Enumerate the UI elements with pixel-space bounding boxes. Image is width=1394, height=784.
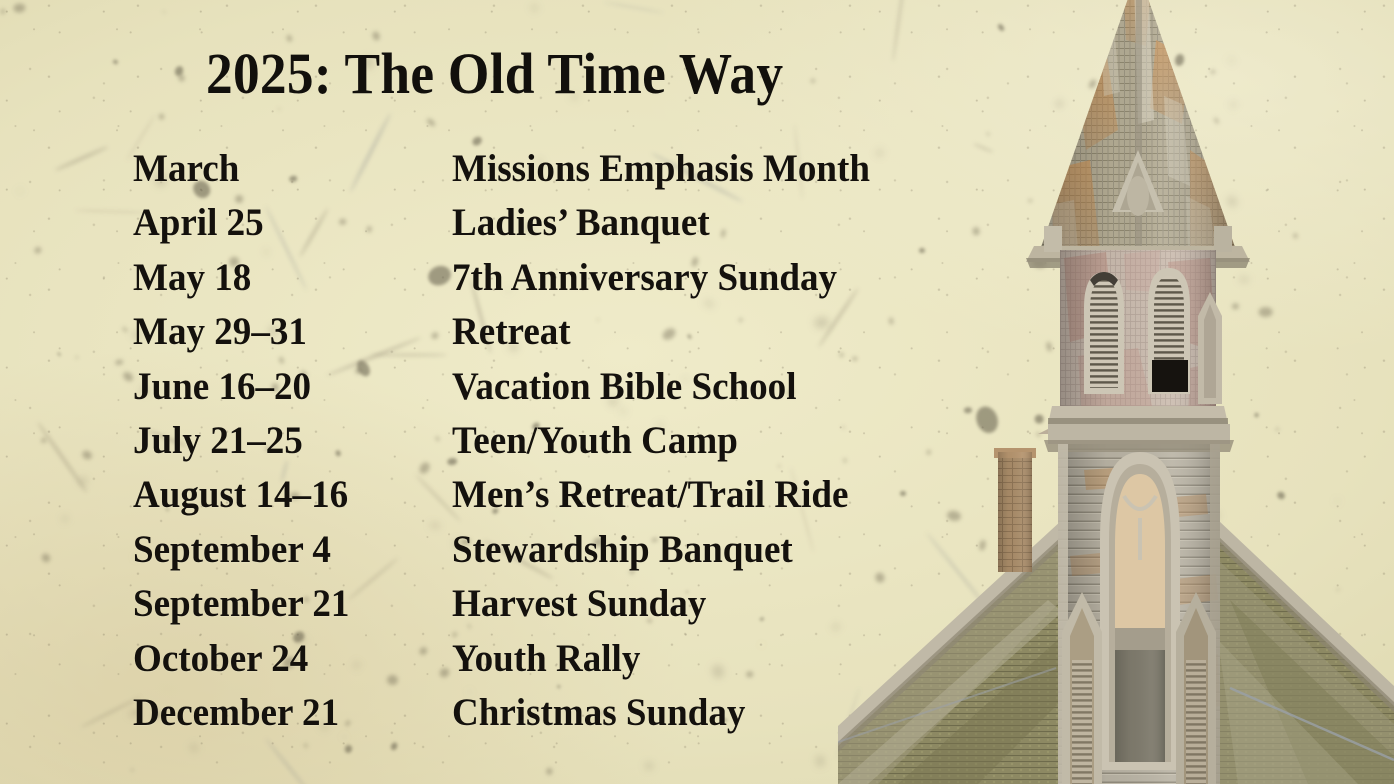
schedule-row: MarchMissions Emphasis Month (133, 145, 993, 199)
schedule-row: May 29–31Retreat (133, 308, 993, 362)
schedule-event: Ladies’ Banquet (452, 199, 710, 247)
schedule-event: Stewardship Banquet (452, 526, 793, 574)
event-schedule-list: MarchMissions Emphasis MonthApril 25Ladi… (133, 145, 993, 743)
schedule-event: Retreat (452, 308, 571, 356)
schedule-date: August 14–16 (133, 471, 348, 519)
schedule-row: May 187th Anniversary Sunday (133, 254, 993, 308)
schedule-date: May 18 (133, 254, 251, 302)
schedule-row: September 4Stewardship Banquet (133, 526, 993, 580)
schedule-event: Christmas Sunday (452, 689, 745, 737)
page-title: 2025: The Old Time Way (206, 40, 783, 107)
schedule-event: 7th Anniversary Sunday (452, 254, 837, 302)
schedule-row: July 21–25Teen/Youth Camp (133, 417, 993, 471)
schedule-date: September 21 (133, 580, 349, 628)
schedule-date: December 21 (133, 689, 339, 737)
schedule-date: May 29–31 (133, 308, 307, 356)
schedule-row: September 21Harvest Sunday (133, 580, 993, 634)
schedule-event: Men’s Retreat/Trail Ride (452, 471, 848, 519)
schedule-date: July 21–25 (133, 417, 303, 465)
schedule-event: Missions Emphasis Month (452, 145, 870, 193)
schedule-date: March (133, 145, 239, 193)
slide-canvas: 2025: The Old Time Way MarchMissions Emp… (0, 0, 1394, 784)
schedule-date: April 25 (133, 199, 264, 247)
schedule-row: April 25Ladies’ Banquet (133, 199, 993, 253)
schedule-date: June 16–20 (133, 363, 311, 411)
schedule-date: October 24 (133, 635, 308, 683)
schedule-row: October 24Youth Rally (133, 635, 993, 689)
schedule-event: Teen/Youth Camp (452, 417, 738, 465)
schedule-row: December 21Christmas Sunday (133, 689, 993, 743)
schedule-event: Harvest Sunday (452, 580, 706, 628)
schedule-event: Vacation Bible School (452, 363, 796, 411)
schedule-event: Youth Rally (452, 635, 640, 683)
schedule-date: September 4 (133, 526, 331, 574)
schedule-row: August 14–16Men’s Retreat/Trail Ride (133, 471, 993, 525)
schedule-row: June 16–20Vacation Bible School (133, 363, 993, 417)
